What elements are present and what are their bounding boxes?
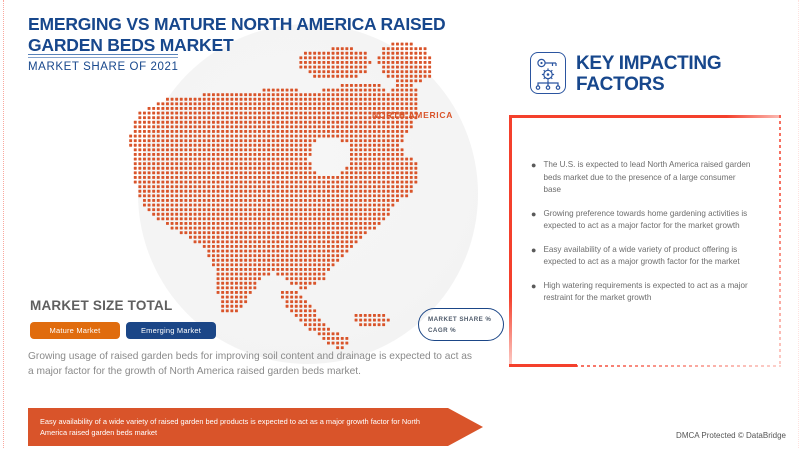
page-title: EMERGING VS MATURE NORTH AMERICA RAISED … [28, 14, 498, 57]
box-border-bottom [509, 365, 781, 367]
box-border-right [779, 115, 781, 367]
bullet-dot-icon: ● [531, 244, 536, 269]
key-gear-icon [530, 52, 566, 94]
key-factors-list: ● The U.S. is expected to lead North Ame… [531, 159, 753, 316]
growth-factor-banner: Easy availability of a wide variety of r… [28, 408, 483, 446]
market-size-heading: MARKET SIZE TOTAL [30, 298, 172, 313]
bullet-dot-icon: ● [531, 159, 536, 197]
growth-factor-banner-text: Easy availability of a wide variety of r… [40, 416, 440, 438]
key-factors-title: KEY IMPACTING FACTORS [576, 54, 776, 96]
box-border-bottom-solid [509, 364, 577, 367]
list-item: ● High watering requirements is expected… [531, 280, 753, 305]
list-item-text: Easy availability of a wide variety of p… [543, 244, 753, 269]
bullet-dot-icon: ● [531, 280, 536, 305]
metric-market-share-label: MARKET SHARE % [428, 314, 503, 325]
title-underline [28, 54, 178, 58]
infographic-root: EMERGING VS MATURE NORTH AMERICA RAISED … [0, 0, 800, 450]
list-item-text: Growing preference towards home gardenin… [543, 208, 753, 233]
box-border-left [509, 115, 512, 367]
list-item-text: High watering requirements is expected t… [543, 280, 753, 305]
list-item: ● The U.S. is expected to lead North Ame… [531, 159, 753, 197]
key-factors-box: ● The U.S. is expected to lead North Ame… [509, 115, 781, 367]
box-border-top [509, 115, 781, 118]
list-item: ● Easy availability of a wide variety of… [531, 244, 753, 269]
list-item-text: The U.S. is expected to lead North Ameri… [543, 159, 753, 197]
legend-chip-mature[interactable]: Mature Market [30, 322, 120, 339]
bullet-dot-icon: ● [531, 208, 536, 233]
map-region-label: NORTH AMERICA [372, 110, 453, 120]
legend-chip-emerging[interactable]: Emerging Market [126, 322, 216, 339]
market-legend: Mature Market Emerging Market [30, 322, 216, 339]
footer-credit: DMCA Protected © DataBridge [676, 431, 786, 440]
metrics-pill: MARKET SHARE % CAGR % [418, 308, 504, 341]
metric-cagr-label: CAGR % [428, 325, 503, 336]
list-item: ● Growing preference towards home garden… [531, 208, 753, 233]
lead-paragraph: Growing usage of raised garden beds for … [28, 350, 478, 380]
page-subtitle: MARKET SHARE OF 2021 [28, 61, 178, 73]
